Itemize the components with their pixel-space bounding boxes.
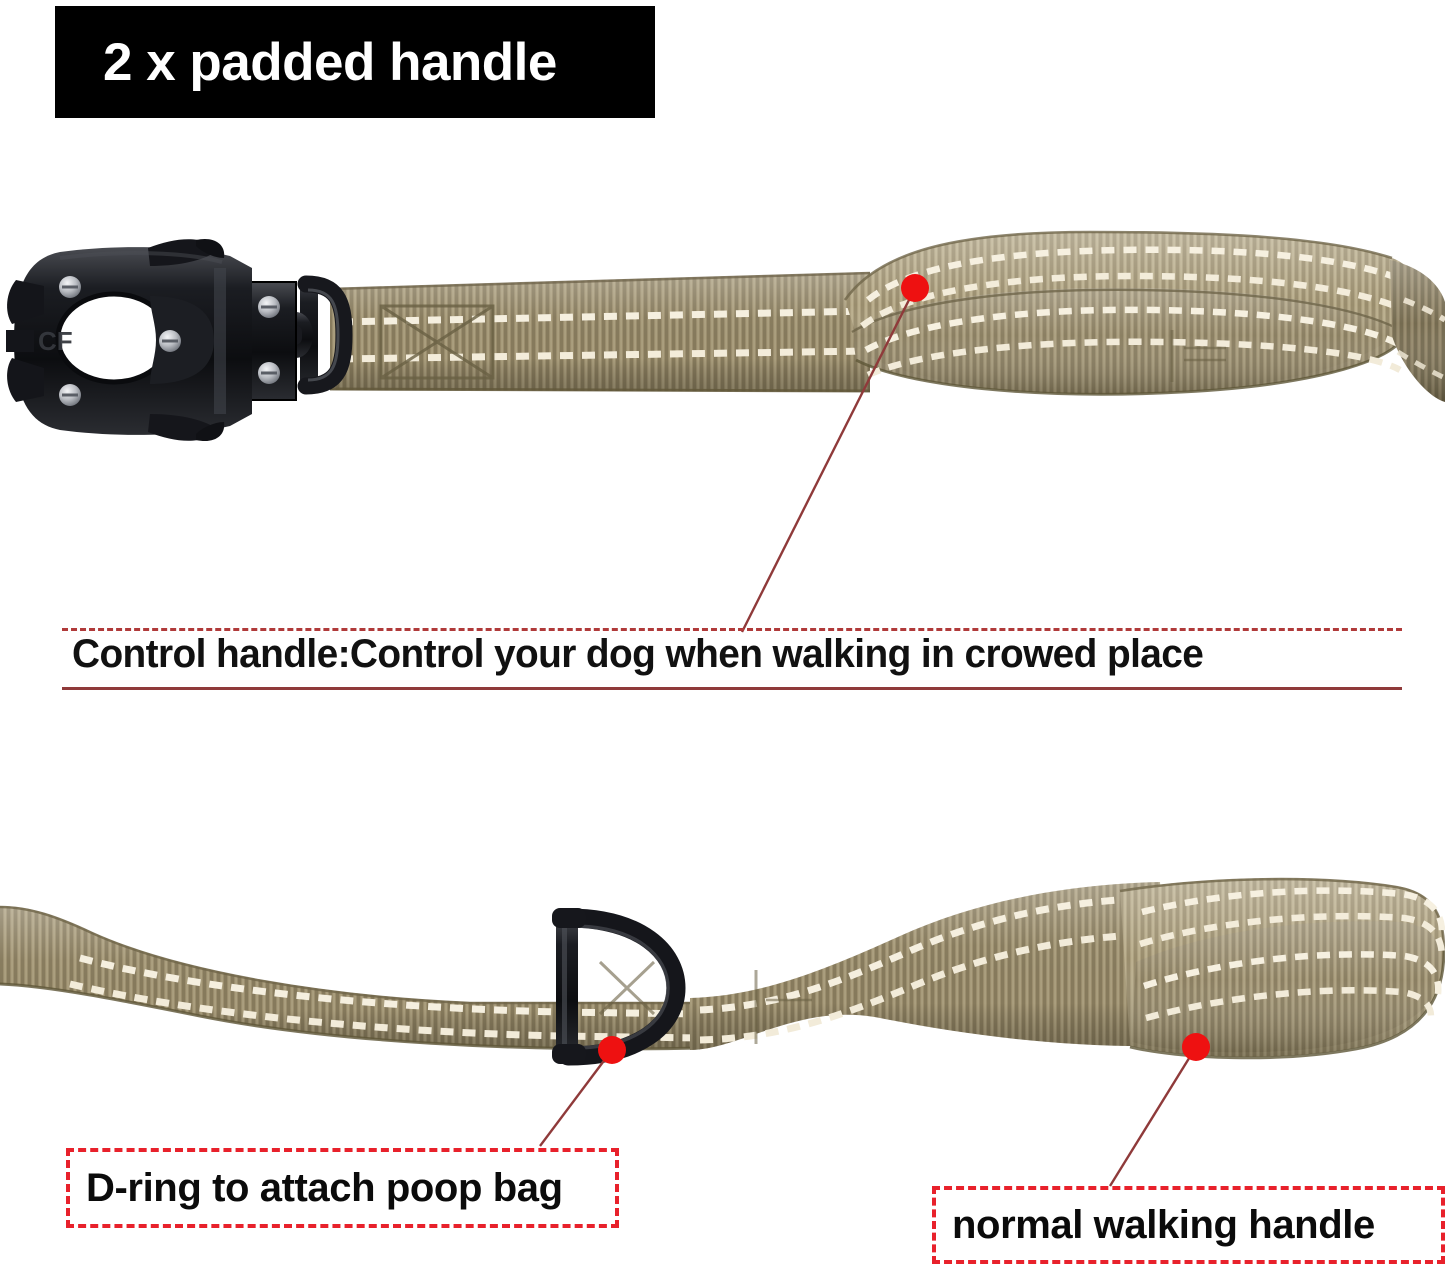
frog-clip: CF <box>6 239 296 441</box>
callout-dot-control-handle <box>901 274 929 302</box>
swivel-connector <box>272 276 344 394</box>
caption-control-handle-label: Control handle:Control your dog when wal… <box>72 632 1203 677</box>
callout-leader-walking-handle <box>1110 1033 1210 1186</box>
svg-text:CF: CF <box>38 326 73 356</box>
caption-normal-walking-handle-label: normal walking handle <box>936 1203 1391 1248</box>
clip-screws <box>59 276 280 406</box>
walking-handle-loop <box>1120 878 1444 1058</box>
d-ring-box-x-stitch <box>600 962 654 1014</box>
title-banner: 2 x padded handle <box>55 6 655 118</box>
bottom-strap-webbing <box>0 906 700 1049</box>
top-strap-right-tail <box>1390 260 1445 402</box>
infographic-stage: 2 x padded handle <box>0 0 1445 1260</box>
control-handle-loop <box>845 232 1416 394</box>
caption-control-handle: Control handle:Control your dog when wal… <box>62 628 1402 690</box>
top-strap-webbing <box>330 272 870 392</box>
title-banner-label: 2 x padded handle <box>55 32 557 93</box>
caption-solid-rule-bottom <box>62 687 1402 690</box>
caption-d-ring-label: D-ring to attach poop bag <box>70 1166 579 1211</box>
callout-dot-walking-handle <box>1182 1033 1210 1061</box>
riser-bartack <box>756 970 812 1044</box>
loop-bartack <box>1172 330 1226 382</box>
caption-dashed-rule-top <box>62 628 1402 631</box>
bottom-strap-riser <box>690 882 1170 1050</box>
callout-leader-d-ring <box>540 1036 626 1146</box>
top-leash-assembly: CF <box>6 232 1445 441</box>
box-x-stitch <box>381 306 493 378</box>
caption-d-ring: D-ring to attach poop bag <box>66 1148 619 1228</box>
callout-dot-d-ring <box>598 1036 626 1064</box>
bottom-leash-assembly <box>0 878 1444 1064</box>
callout-leader-control-handle <box>742 274 929 632</box>
d-ring <box>552 908 676 1064</box>
caption-normal-walking-handle: normal walking handle <box>932 1186 1445 1264</box>
